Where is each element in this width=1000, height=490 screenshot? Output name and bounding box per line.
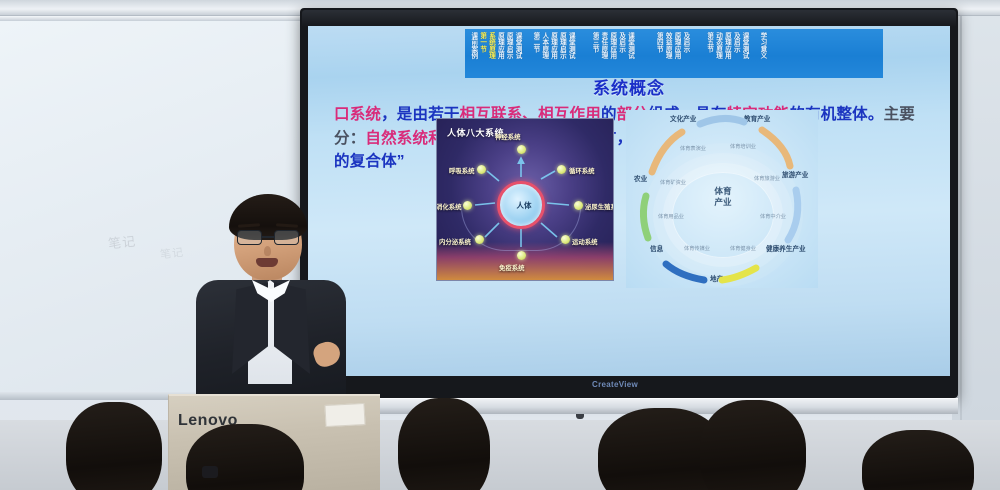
nav-chip-20[interactable]: 第五节 [705, 31, 712, 77]
nav-chip-0[interactable]: 课前案例 [469, 31, 476, 77]
nav-chip-13[interactable]: 原理应用 [608, 31, 615, 77]
nav-chip-9[interactable]: 原理启示 [558, 31, 565, 77]
glasses-lens-left [237, 230, 262, 245]
nav-chip-24[interactable]: 课堂测试 [740, 31, 747, 77]
glasses-icon [236, 230, 300, 245]
podium-note-paper [324, 403, 365, 427]
presenter-nose [264, 246, 271, 256]
whiteboard-frame [0, 16, 348, 21]
glasses-lens-right [274, 230, 299, 245]
figure-human-body-systems: 人体八大系统 人体 神经系统 循环系统 泌尿生殖系统 运动系统 免疫系统 内分泌… [436, 118, 614, 281]
slide-title: 系统概念 [308, 74, 950, 99]
audience-head-3 [398, 398, 490, 490]
presentation-slide: 课前案例 第一节 系统原理 原理应用 原理启示 课堂测试 第二节 人本原理 原理… [308, 26, 950, 376]
audience-head-2 [186, 424, 304, 490]
whiteboard-scribble: 笔记 [107, 231, 137, 253]
nav-chip-18[interactable]: 原理应用 [672, 31, 679, 77]
body-seg-9: 机整体。 [821, 106, 884, 123]
slide-nav-bar[interactable]: 课前案例 第一节 系统原理 原理应用 原理启示 课堂测试 第二节 人本原理 原理… [465, 29, 883, 78]
whiteboard-scribble-2: 笔记 [159, 244, 185, 262]
nav-chip-6[interactable]: 第二节 [531, 31, 538, 77]
figure-sports-industry: 体育 产业 文化产业 教育产业 旅游产业 健康养生产业 地产 信息 农业 体育表… [626, 110, 818, 288]
hair-clip [202, 466, 218, 478]
presenter-mouth [256, 258, 278, 267]
nav-chip-10[interactable]: 课堂测试 [566, 31, 573, 77]
ledge-knob [576, 414, 584, 419]
nav-chip-21[interactable]: 动态原理 [714, 31, 721, 77]
nav-chip-1[interactable]: 第一节 [478, 31, 485, 77]
nav-chip-19[interactable]: 及启示 [681, 31, 688, 77]
nav-chip-14[interactable]: 及启示 [617, 31, 624, 77]
audience-head-5 [700, 400, 806, 490]
nav-chip-4[interactable]: 原理启示 [504, 31, 511, 77]
nav-chip-2[interactable]: 系统原理 [487, 31, 494, 77]
display-bezel [302, 10, 956, 27]
audience-head-1 [66, 402, 162, 490]
glasses-bridge [262, 236, 274, 238]
audience-head-6 [862, 430, 974, 490]
nav-chip-15[interactable]: 课堂测试 [626, 31, 633, 77]
nav-chip-22[interactable]: 原理应用 [723, 31, 730, 77]
nav-chip-23[interactable]: 及启示 [731, 31, 738, 77]
nav-chip-11[interactable]: 第三节 [590, 31, 597, 77]
body-seg-13: 的复合体” [334, 153, 405, 170]
wall-seam [960, 16, 962, 420]
nav-chip-12[interactable]: 责任原理 [599, 31, 606, 77]
nav-chip-8[interactable]: 原理应用 [549, 31, 556, 77]
nav-chip-17[interactable]: 效益原理 [663, 31, 670, 77]
presenter [196, 196, 346, 400]
body-arrows [437, 119, 614, 281]
classroom-scene: 笔记 笔记 课前案例 第一节 系统原理 原理应用 原理启示 课堂测试 第二节 人… [0, 0, 1000, 490]
display-brand-label: CreateView [575, 380, 655, 391]
body-seg-1: 口系统 [334, 106, 381, 123]
sports-cycle-arrows [626, 110, 818, 288]
nav-chip-25[interactable]: 学习意义 [758, 31, 765, 77]
nav-chip-16[interactable]: 第四节 [655, 31, 662, 77]
nav-chip-7[interactable]: 人本原理 [540, 31, 547, 77]
nav-chip-3[interactable]: 原理应用 [496, 31, 503, 77]
nav-chip-5[interactable]: 课堂测试 [513, 31, 520, 77]
